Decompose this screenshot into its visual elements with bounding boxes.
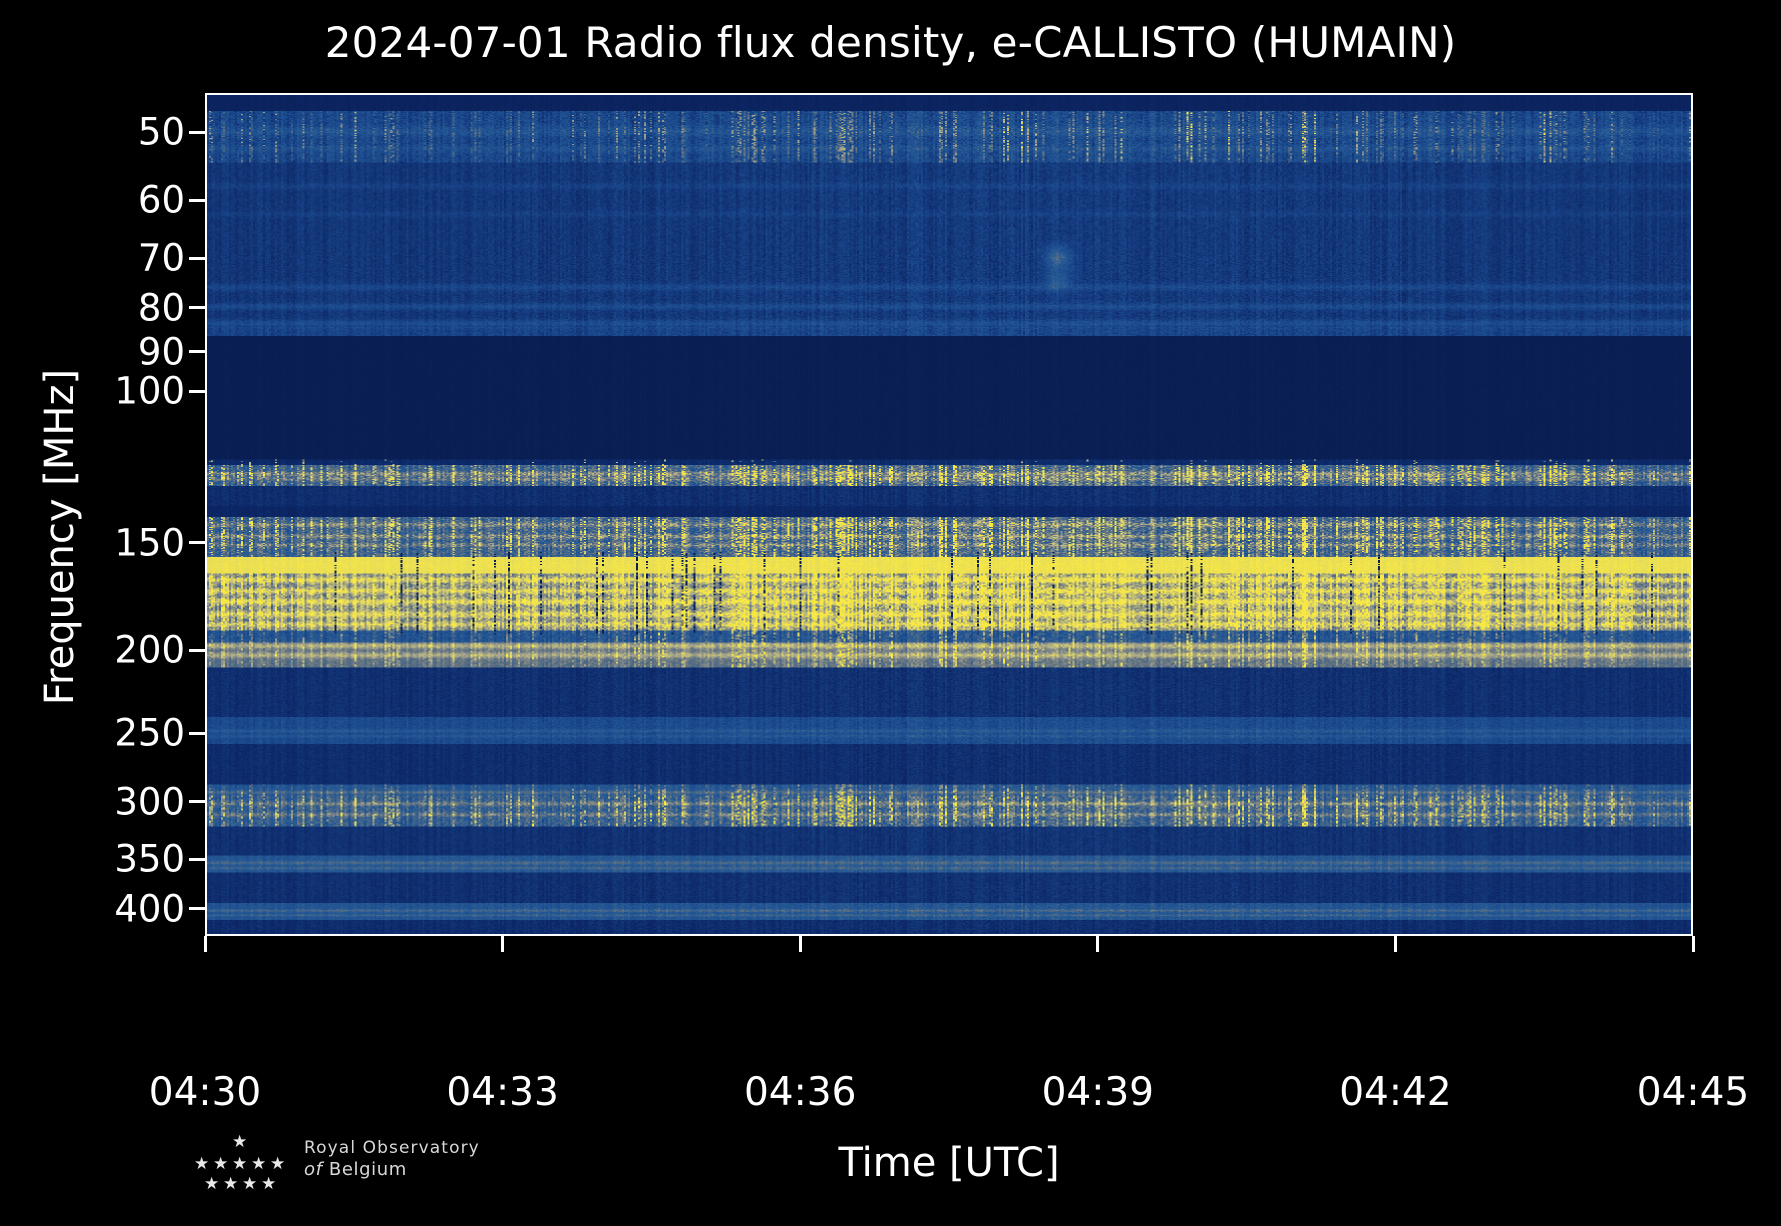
x-tick-mark bbox=[1394, 936, 1397, 952]
y-tick-label: 50 bbox=[138, 114, 185, 151]
y-tick-label: 250 bbox=[114, 715, 185, 752]
x-tick-mark bbox=[501, 936, 504, 952]
x-tick-label: 04:45 bbox=[1637, 1073, 1749, 1112]
star-icon: ★ bbox=[223, 1176, 238, 1193]
y-tick-label: 90 bbox=[138, 333, 185, 370]
x-tick-label: 04:30 bbox=[149, 1073, 261, 1112]
star-icon: ★ bbox=[242, 1176, 257, 1193]
logo-line-2: of Belgium bbox=[304, 1159, 514, 1181]
y-tick-label: 350 bbox=[114, 841, 185, 878]
chart-title: 2024-07-01 Radio flux density, e-CALLIST… bbox=[0, 18, 1781, 67]
x-tick-mark bbox=[204, 936, 207, 952]
star-icon: ★ bbox=[232, 1134, 247, 1151]
x-tick-label: 04:39 bbox=[1042, 1073, 1154, 1112]
star-icon: ★ bbox=[213, 1156, 228, 1173]
y-tick-label: 300 bbox=[114, 783, 185, 820]
y-tick-mark bbox=[189, 350, 205, 353]
star-icon: ★ bbox=[251, 1156, 266, 1173]
y-tick-label: 200 bbox=[114, 632, 185, 669]
figure-canvas: 2024-07-01 Radio flux density, e-CALLIST… bbox=[0, 0, 1781, 1226]
y-tick-label: 80 bbox=[138, 289, 185, 326]
logo-line-1: Royal Observatory bbox=[304, 1138, 514, 1159]
star-icon: ★ bbox=[270, 1156, 285, 1173]
y-tick-mark bbox=[189, 390, 205, 393]
y-tick-label: 150 bbox=[114, 524, 185, 561]
y-tick-mark bbox=[189, 800, 205, 803]
star-icon: ★ bbox=[194, 1156, 209, 1173]
star-icon: ★ bbox=[232, 1156, 247, 1173]
y-tick-mark bbox=[189, 131, 205, 134]
x-tick-mark bbox=[799, 936, 802, 952]
spectrogram-plot-area[interactable] bbox=[205, 93, 1693, 936]
y-tick-label: 400 bbox=[114, 890, 185, 927]
y-tick-mark bbox=[189, 649, 205, 652]
star-icon: ★ bbox=[204, 1176, 219, 1193]
x-tick-mark bbox=[1692, 936, 1695, 952]
spectrogram-raster bbox=[207, 95, 1691, 934]
y-tick-mark bbox=[189, 907, 205, 910]
y-tick-mark bbox=[189, 541, 205, 544]
logo-text: Royal Observatory of Belgium bbox=[304, 1138, 514, 1181]
x-tick-label: 04:42 bbox=[1339, 1073, 1451, 1112]
y-tick-label: 100 bbox=[114, 373, 185, 410]
spectrogram-image bbox=[207, 95, 1691, 934]
y-tick-mark bbox=[189, 732, 205, 735]
y-tick-mark bbox=[189, 858, 205, 861]
y-tick-mark bbox=[189, 257, 205, 260]
x-tick-label: 04:36 bbox=[744, 1073, 856, 1112]
logo-country-word: Belgium bbox=[329, 1159, 407, 1180]
eu-stars-icon: ★★★★★★★★★★ bbox=[186, 1134, 294, 1196]
y-tick-label: 60 bbox=[138, 182, 185, 219]
royal-observatory-logo: ★★★★★★★★★★ Royal Observatory of Belgium bbox=[186, 1132, 516, 1204]
y-tick-mark bbox=[189, 199, 205, 202]
y-tick-label: 70 bbox=[138, 240, 185, 277]
y-tick-mark bbox=[189, 306, 205, 309]
y-axis-title: Frequency [MHz] bbox=[37, 327, 83, 747]
x-tick-mark bbox=[1096, 936, 1099, 952]
logo-of-word: of bbox=[304, 1159, 323, 1180]
star-icon: ★ bbox=[261, 1176, 276, 1193]
x-tick-label: 04:33 bbox=[446, 1073, 558, 1112]
